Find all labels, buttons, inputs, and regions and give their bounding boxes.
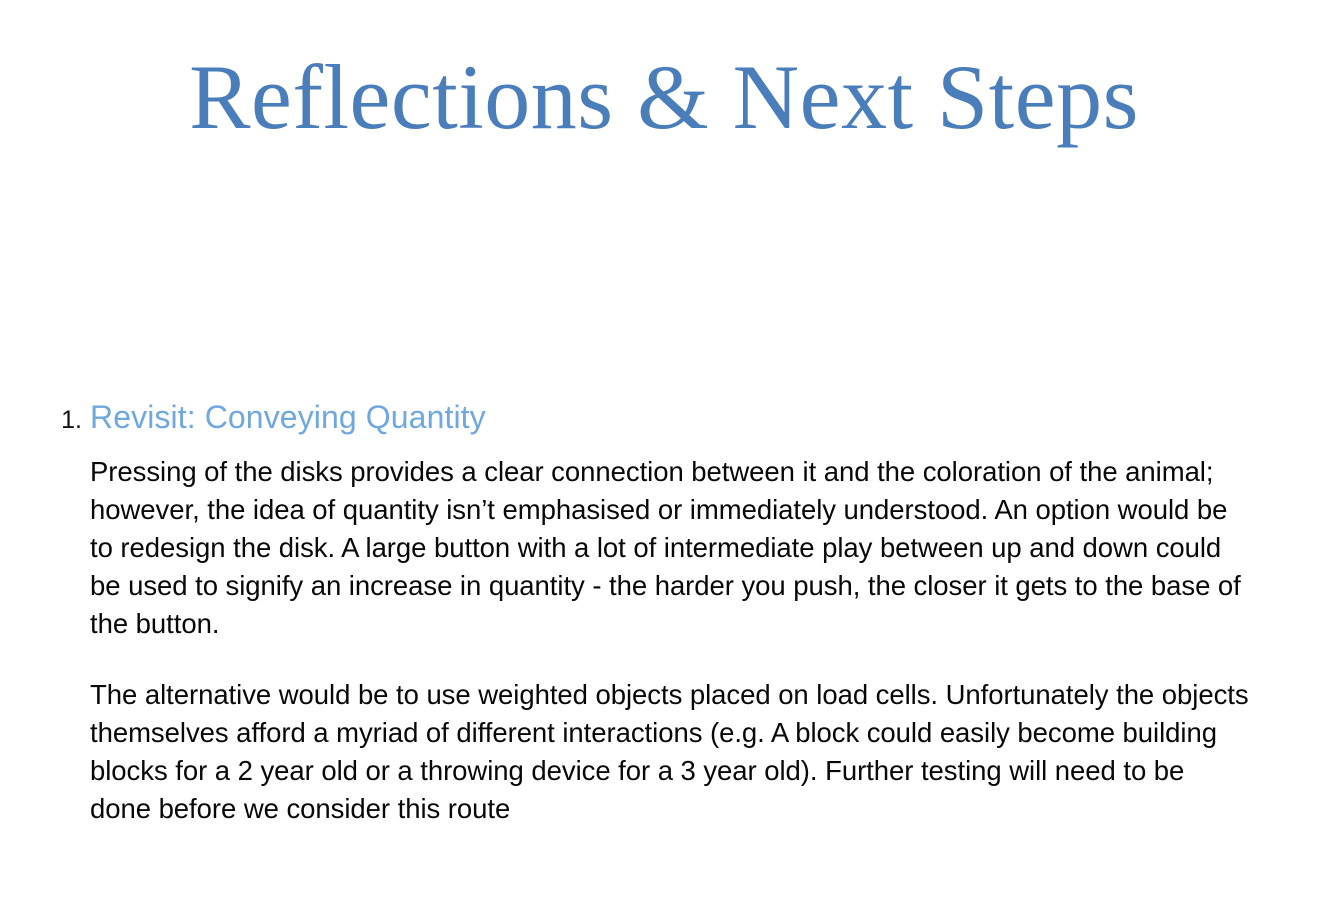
page-title: Reflections & Next Steps: [0, 48, 1328, 147]
paragraph-1: Pressing of the disks provides a clear c…: [90, 453, 1250, 643]
paragraph-2: The alternative would be to use weighted…: [90, 676, 1250, 828]
list-marker-number: 1.: [40, 408, 82, 433]
slide-canvas: Reflections & Next Steps 1. Revisit: Con…: [0, 0, 1328, 900]
list-item-body: Revisit: Conveying Quantity Pressing of …: [90, 398, 1280, 828]
section-heading: Revisit: Conveying Quantity: [90, 398, 1280, 437]
list-item: 1. Revisit: Conveying Quantity Pressing …: [40, 398, 1280, 828]
slide-content-body: 1. Revisit: Conveying Quantity Pressing …: [40, 398, 1280, 828]
